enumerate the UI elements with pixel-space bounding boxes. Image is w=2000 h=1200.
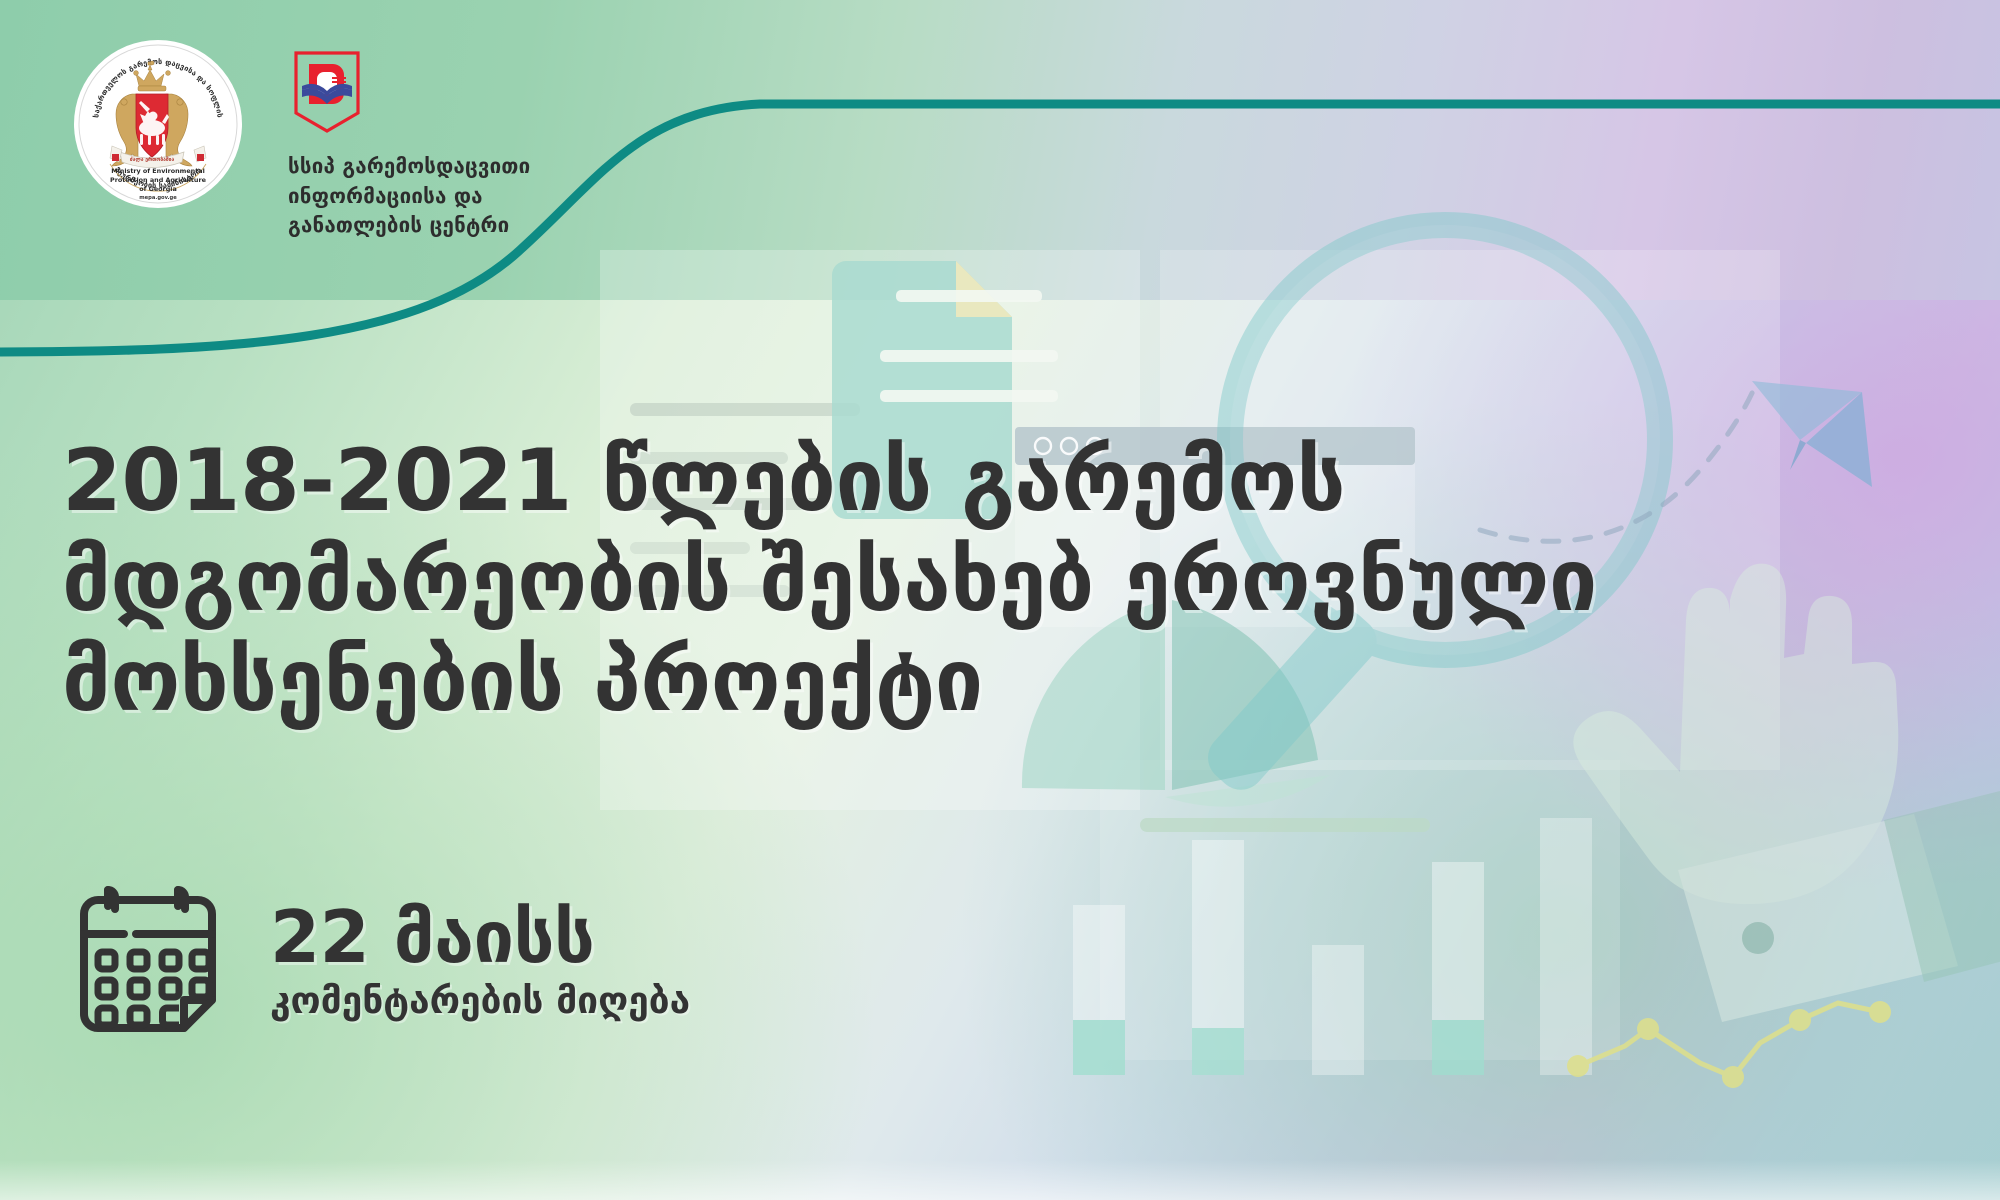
page-title: 2018-2021 წლების გარემოს მდგომარეობის შე…: [62, 432, 1622, 731]
deadline-date: 22 მაისს: [270, 900, 690, 976]
ministry-en-line1: Ministry of Environmental: [111, 167, 205, 175]
deadline-texts: 22 მაისს კომენტარების მიღება: [270, 890, 690, 1022]
bottom-fade: [0, 1160, 2000, 1200]
logo-header: საქართველოს გარემოს დაცვისა და სოფლის მე…: [0, 0, 530, 241]
page-title-line-1: 2018-2021 წლების გარემოს: [62, 432, 1622, 532]
ministry-motto: ძალა ერთობაშია: [130, 156, 175, 163]
poster-canvas: საქართველოს გარემოს დაცვისა და სოფლის მე…: [0, 0, 2000, 1200]
deadline-block: 22 მაისს კომენტარების მიღება: [60, 868, 690, 1044]
ministry-en-line2: Protection and Agriculture: [110, 176, 207, 184]
ministry-logo: საქართველოს გარემოს დაცვისა და სოფლის მე…: [76, 42, 240, 206]
center-logo-block: სსიპ გარემოსდაცვითი ინფორმაციისა და განა…: [288, 42, 530, 241]
eiec-shield-book-logo: [292, 50, 362, 136]
ministry-url: mepa.gov.ge: [139, 195, 177, 201]
calendar-icon: [60, 868, 236, 1044]
center-logo-caption: სსიპ გარემოსდაცვითი ინფორმაციისა და განა…: [288, 152, 530, 241]
deadline-caption: კომენტარების მიღება: [270, 981, 690, 1022]
page-title-line-3: მოხსენების პროექტი: [62, 632, 1622, 732]
page-title-line-2: მდგომარეობის შესახებ ეროვნული: [62, 532, 1622, 632]
ministry-en-line3: of Georgia: [139, 185, 177, 193]
